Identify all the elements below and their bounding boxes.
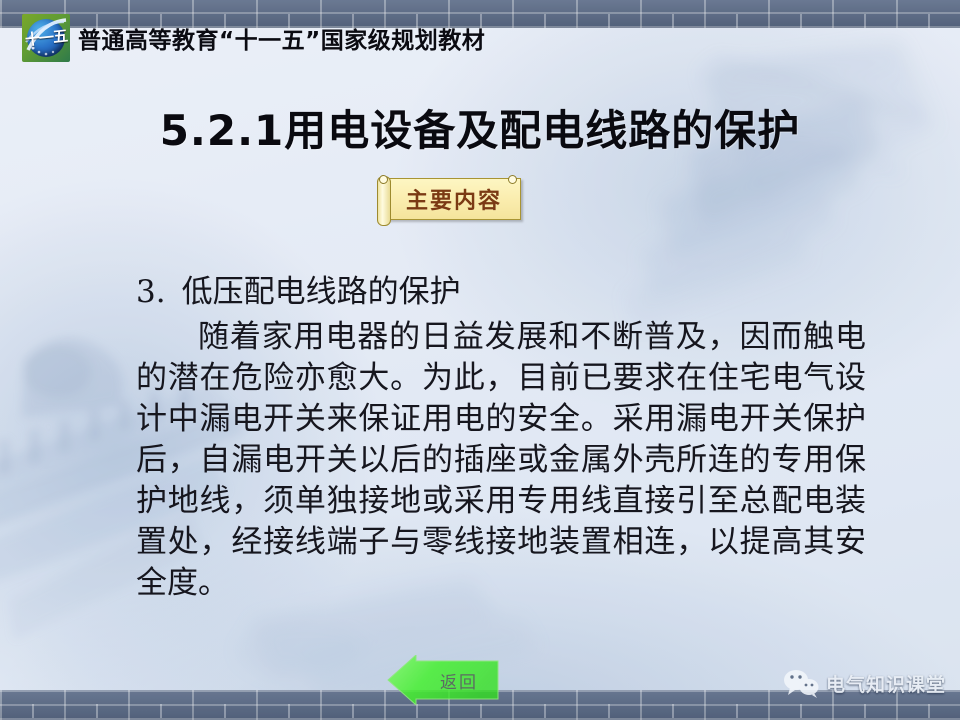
- header-title: 普通高等教育“十一五”国家级规划教材: [78, 21, 485, 55]
- slide-canvas: 十一五 普通高等教育“十一五”国家级规划教材 5.2.1用电设备及配电线路的保护…: [0, 0, 960, 720]
- wechat-icon: [783, 668, 819, 698]
- return-button-label: 返回: [422, 655, 496, 705]
- content-heading-text: 低压配电线路的保护: [182, 274, 461, 310]
- scroll-banner-icon: 主要内容: [371, 176, 525, 224]
- return-button[interactable]: 返回: [386, 655, 502, 705]
- content-body: 3.低压配电线路的保护 随着家用电器的日益发展和不断普及，因而触电的潜在危险亦愈…: [136, 272, 866, 604]
- content-paragraph: 随着家用电器的日益发展和不断普及，因而触电的潜在危险亦愈大。为此，目前已要求在住…: [136, 317, 866, 604]
- content-heading: 3.低压配电线路的保护: [136, 272, 866, 313]
- content-heading-number: 3.: [136, 274, 166, 310]
- globe-sphere-icon: 十一五: [22, 14, 70, 62]
- watermark: 电气知识课堂: [783, 668, 946, 698]
- watermark-text: 电气知识课堂: [826, 670, 946, 697]
- section-banner-label: 主要内容: [389, 176, 519, 222]
- page-title: 5.2.1用电设备及配电线路的保护: [0, 97, 960, 158]
- header: 十一五 普通高等教育“十一五”国家级规划教材: [22, 14, 485, 62]
